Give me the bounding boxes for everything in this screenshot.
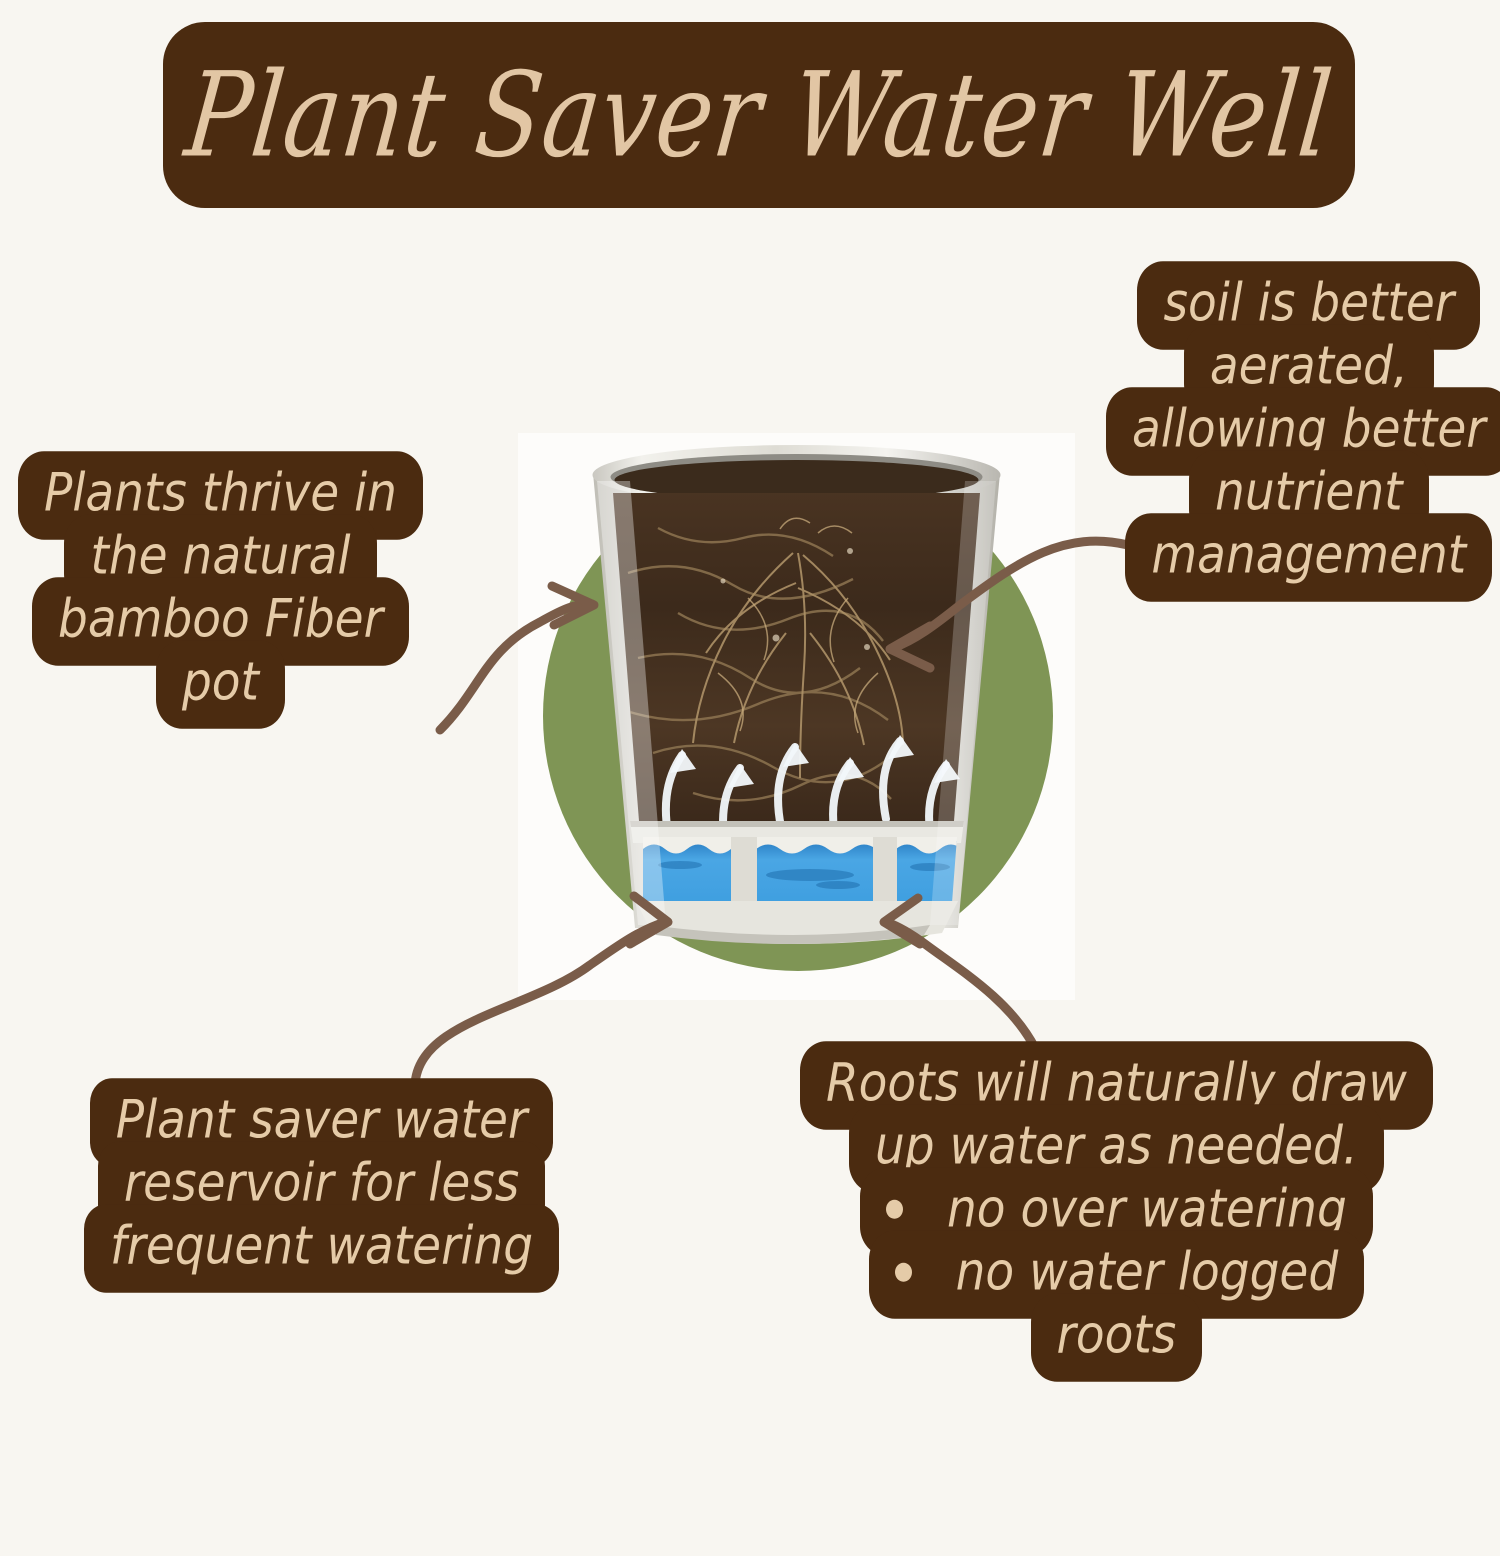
water-reservoir: [643, 837, 968, 903]
page-title: Plant Saver Water Well: [181, 56, 1338, 173]
callout-bullet-label: no over watering: [947, 1183, 1347, 1236]
callout-bullet-overflow: roots: [1031, 1293, 1203, 1381]
bullet-dot-icon: [886, 1200, 903, 1219]
bamboo-fiber-pot-callout[interactable]: Plants thrive in the natural bamboo Fibe…: [18, 456, 423, 724]
roots-draw-water-callout[interactable]: Roots will naturally draw up water as ne…: [800, 1046, 1433, 1377]
soil-aeration-callout[interactable]: soil is better aerated, allowing better …: [1106, 266, 1500, 597]
callout-bullet-label: no water logged: [956, 1246, 1339, 1299]
bullet-dot-icon: [895, 1263, 912, 1282]
callout-line: pot: [156, 640, 285, 728]
title-banner: Plant Saver Water Well: [163, 22, 1355, 208]
callout-line: frequent watering: [84, 1204, 559, 1292]
water-reservoir-callout[interactable]: Plant saver water reservoir for less fre…: [84, 1083, 559, 1288]
callout-line: management: [1125, 513, 1492, 601]
cutaway-pot-illustration: [518, 433, 1075, 1000]
infographic-root: Plant Saver Water Well: [0, 0, 1500, 1556]
